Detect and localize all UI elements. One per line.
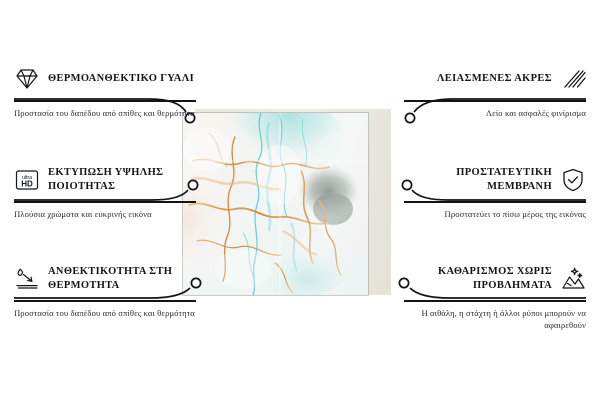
svg-text:HD: HD xyxy=(21,180,33,189)
divider xyxy=(404,300,586,302)
shield-check-icon xyxy=(560,167,586,193)
feature-title: ΘΕΡΜΟΑΝΘΕΚΤΙΚΟ ΓΥΑΛΙ xyxy=(48,72,194,86)
polished-edges-icon xyxy=(560,66,586,92)
feature-easy-cleaning: ΚΑΘΑΡΙΣΜΟΣ ΧΩΡΙΣ ΠΡΟΒΛΗΜΑΤΑ Η αιθάλη, η … xyxy=(404,262,586,332)
marble-ink-artwork xyxy=(183,113,368,295)
feature-heading: ΛΕΙΑΣΜΕΝΕΣ ΑΚΡΕΣ xyxy=(404,62,586,96)
feature-protective-film: ΠΡΟΣΤΑΤΕΥΤΙΚΗ ΜΕΜΒΡΑΝΗ Προστατεύει το πί… xyxy=(404,163,586,220)
feature-title: ΠΡΟΣΤΑΤΕΥΤΙΚΗ ΜΕΜΒΡΑΝΗ xyxy=(404,166,552,194)
feature-description: Προστασία του δαπέδου από σπίθες και θερ… xyxy=(14,307,196,319)
feature-description: Η αιθάλη, η στάχτη ή άλλοι ρύποι μπορούν… xyxy=(404,307,586,332)
feature-high-quality-print: ultra HD ΕΚΤΥΠΩΣΗ ΥΨΗΛΗΣ ΠΟΙΟΤΗΤΑΣ Πλούσ… xyxy=(14,163,196,220)
divider xyxy=(14,100,196,102)
feature-description: Προστατεύει το πίσω μέρος της εικόνας xyxy=(404,208,586,220)
product-image xyxy=(183,113,383,295)
feature-heat-resistant-glass: ΘΕΡΜΟΑΝΘΕΚΤΙΚΟ ΓΥΑΛΙ Προστασία του δαπέδ… xyxy=(14,62,196,119)
feature-title: ΕΚΤΥΠΩΣΗ ΥΨΗΛΗΣ ΠΟΙΟΤΗΤΑΣ xyxy=(48,166,196,194)
feature-title: ΚΑΘΑΡΙΣΜΟΣ ΧΩΡΙΣ ΠΡΟΒΛΗΜΑΤΑ xyxy=(404,265,552,293)
feature-heading: ΑΝΘΕΚΤΙΚΟΤΗΤΑ ΣΤΗ ΘΕΡΜΟΤΗΤΑ xyxy=(14,262,196,296)
divider xyxy=(14,300,196,302)
sparkle-clean-icon xyxy=(560,266,586,292)
divider xyxy=(404,100,586,102)
glass-panel xyxy=(183,113,368,295)
feature-title: ΑΝΘΕΚΤΙΚΟΤΗΤΑ ΣΤΗ ΘΕΡΜΟΤΗΤΑ xyxy=(48,265,196,293)
feature-description: Λείο και ασφαλές φινίρισμα xyxy=(404,107,586,119)
feature-description: Προστασία του δαπέδου από σπίθες και θερ… xyxy=(14,107,196,119)
diamond-icon xyxy=(14,66,40,92)
feature-heading: ultra HD ΕΚΤΥΠΩΣΗ ΥΨΗΛΗΣ ΠΟΙΟΤΗΤΑΣ xyxy=(14,163,196,197)
feature-title: ΛΕΙΑΣΜΕΝΕΣ ΑΚΡΕΣ xyxy=(437,72,552,86)
feature-heading: ΠΡΟΣΤΑΤΕΥΤΙΚΗ ΜΕΜΒΡΑΝΗ xyxy=(404,163,586,197)
infographic-canvas: ΘΕΡΜΟΑΝΘΕΚΤΙΚΟ ΓΥΑΛΙ Προστασία του δαπέδ… xyxy=(0,0,600,400)
feature-polished-edges: ΛΕΙΑΣΜΕΝΕΣ ΑΚΡΕΣ Λείο και ασφαλές φινίρι… xyxy=(404,62,586,119)
divider xyxy=(404,201,586,203)
divider xyxy=(14,201,196,203)
feature-heading: ΚΑΘΑΡΙΣΜΟΣ ΧΩΡΙΣ ΠΡΟΒΛΗΜΑΤΑ xyxy=(404,262,586,296)
feature-heat-resistance: ΑΝΘΕΚΤΙΚΟΤΗΤΑ ΣΤΗ ΘΕΡΜΟΤΗΤΑ Προστασία το… xyxy=(14,262,196,319)
ultra-hd-icon: ultra HD xyxy=(14,167,40,193)
heat-resistance-icon xyxy=(14,266,40,292)
feature-heading: ΘΕΡΜΟΑΝΘΕΚΤΙΚΟ ΓΥΑΛΙ xyxy=(14,62,196,96)
feature-description: Πλούσια χρώματα και ευκρινής εικόνα xyxy=(14,208,196,220)
